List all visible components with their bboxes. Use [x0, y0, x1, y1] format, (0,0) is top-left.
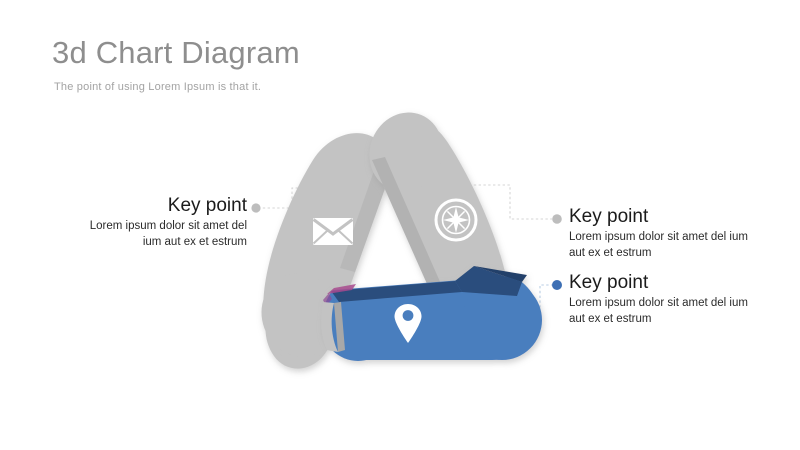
callout-left-body: Lorem ipsum dolor sit amet del ium aut e… — [84, 219, 247, 251]
callout-left-title: Key point — [84, 195, 247, 217]
connector-dot-right-bottom[interactable] — [552, 280, 562, 290]
connector-dot-right-top[interactable] — [552, 214, 562, 224]
callout-left[interactable]: Key point Lorem ipsum dolor sit amet del… — [84, 195, 247, 251]
callout-right-top-body: Lorem ipsum dolor sit amet del ium aut e… — [569, 230, 749, 262]
callout-right-bottom[interactable]: Key point Lorem ipsum dolor sit amet del… — [569, 272, 749, 328]
envelope-icon — [313, 218, 353, 245]
connector-dot-left[interactable] — [251, 203, 260, 212]
callout-right-bottom-body: Lorem ipsum dolor sit amet del ium aut e… — [569, 296, 749, 328]
callout-right-top-title: Key point — [569, 206, 749, 228]
slide-canvas: 3d Chart Diagram The point of using Lore… — [0, 0, 800, 450]
compass-icon — [436, 200, 476, 240]
callout-right-bottom-title: Key point — [569, 272, 749, 294]
callout-right-top[interactable]: Key point Lorem ipsum dolor sit amet del… — [569, 206, 749, 262]
